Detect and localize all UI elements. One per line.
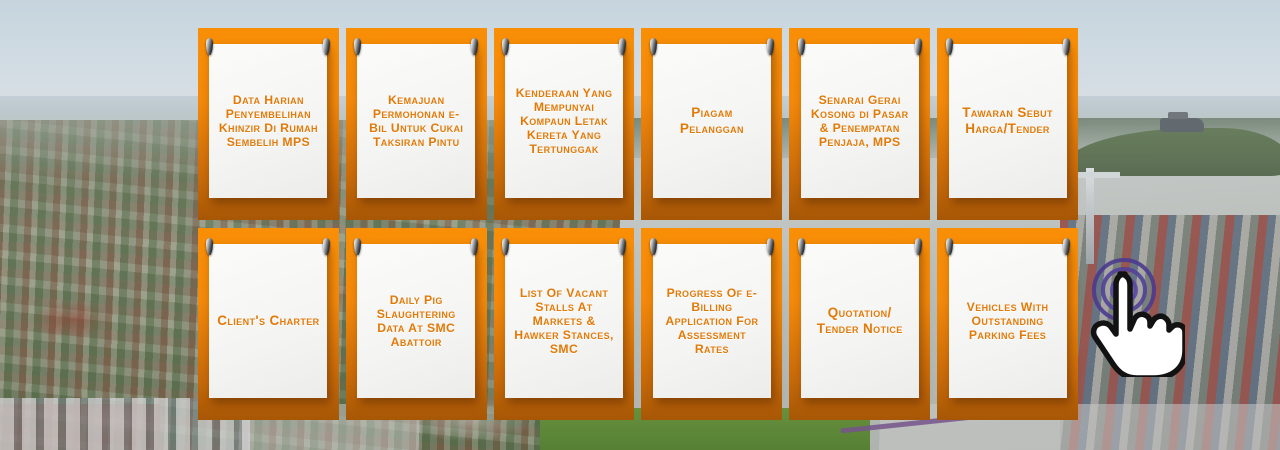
card-title: Tawaran Sebut Harga/Tender <box>956 105 1060 136</box>
pin-icon <box>1063 38 1070 55</box>
service-card[interactable]: Data Harian Penyembelihan Khinzir Di Rum… <box>198 28 339 220</box>
pin-icon <box>502 38 509 55</box>
pin-icon <box>323 38 330 55</box>
service-card[interactable]: Piagam Pelanggan <box>641 28 782 220</box>
pin-icon <box>354 238 361 255</box>
card-title: Vehicles With Outstanding Parking Fees <box>956 300 1060 342</box>
pin-icon <box>502 238 509 255</box>
service-card-grid: Data Harian Penyembelihan Khinzir Di Rum… <box>198 28 1078 420</box>
pin-icon <box>650 38 657 55</box>
card-paper: Tawaran Sebut Harga/Tender <box>949 44 1067 198</box>
pin-icon <box>767 238 774 255</box>
card-title: Kenderaan Yang Mempunyai Kompaun Letak K… <box>512 86 616 157</box>
card-paper: Data Harian Penyembelihan Khinzir Di Rum… <box>209 44 327 198</box>
card-title: Client's Charter <box>217 313 319 329</box>
pin-icon <box>206 238 213 255</box>
pin-icon <box>767 38 774 55</box>
pin-icon <box>946 38 953 55</box>
pin-icon <box>915 238 922 255</box>
service-card[interactable]: Daily Pig Slaughtering Data At SMC Abatt… <box>346 228 487 420</box>
service-card[interactable]: Vehicles With Outstanding Parking Fees <box>937 228 1078 420</box>
card-title: Quotation/ Tender Notice <box>808 305 912 336</box>
pin-icon <box>798 38 805 55</box>
pin-icon <box>798 238 805 255</box>
card-title: Daily Pig Slaughtering Data At SMC Abatt… <box>364 293 468 350</box>
service-card[interactable]: Quotation/ Tender Notice <box>789 228 930 420</box>
pin-icon <box>206 38 213 55</box>
card-paper: Quotation/ Tender Notice <box>801 244 919 398</box>
service-card[interactable]: Tawaran Sebut Harga/Tender <box>937 28 1078 220</box>
pin-icon <box>471 238 478 255</box>
card-paper: Senarai Gerai Kosong di Pasar & Penempat… <box>801 44 919 198</box>
pin-icon <box>1063 238 1070 255</box>
card-paper: List Of Vacant Stalls At Markets & Hawke… <box>505 244 623 398</box>
card-paper: Kenderaan Yang Mempunyai Kompaun Letak K… <box>505 44 623 198</box>
card-title: Kemajuan Permohonan e-Bil Untuk Cukai Ta… <box>364 93 468 150</box>
service-card[interactable]: Progress Of e-Billing Application For As… <box>641 228 782 420</box>
card-paper: Daily Pig Slaughtering Data At SMC Abatt… <box>357 244 475 398</box>
card-title: Senarai Gerai Kosong di Pasar & Penempat… <box>808 93 912 150</box>
card-row-bottom: Client's Charter Daily Pig Slaughtering … <box>198 228 1078 420</box>
card-paper: Kemajuan Permohonan e-Bil Untuk Cukai Ta… <box>357 44 475 198</box>
pin-icon <box>471 38 478 55</box>
card-title: Data Harian Penyembelihan Khinzir Di Rum… <box>216 93 320 150</box>
pin-icon <box>323 238 330 255</box>
pin-icon <box>946 238 953 255</box>
service-card[interactable]: List Of Vacant Stalls At Markets & Hawke… <box>494 228 635 420</box>
pin-icon <box>650 238 657 255</box>
service-card[interactable]: Senarai Gerai Kosong di Pasar & Penempat… <box>789 28 930 220</box>
card-title: List Of Vacant Stalls At Markets & Hawke… <box>512 286 616 357</box>
pin-icon <box>915 38 922 55</box>
pin-icon <box>354 38 361 55</box>
service-card[interactable]: Client's Charter <box>198 228 339 420</box>
card-title: Progress Of e-Billing Application For As… <box>660 286 764 357</box>
pin-icon <box>619 238 626 255</box>
card-paper: Vehicles With Outstanding Parking Fees <box>949 244 1067 398</box>
card-row-top: Data Harian Penyembelihan Khinzir Di Rum… <box>198 28 1078 220</box>
service-card[interactable]: Kemajuan Permohonan e-Bil Untuk Cukai Ta… <box>346 28 487 220</box>
service-card[interactable]: Kenderaan Yang Mempunyai Kompaun Letak K… <box>494 28 635 220</box>
card-paper: Progress Of e-Billing Application For As… <box>653 244 771 398</box>
card-paper: Client's Charter <box>209 244 327 398</box>
card-paper: Piagam Pelanggan <box>653 44 771 198</box>
card-title: Piagam Pelanggan <box>660 105 764 136</box>
pin-icon <box>619 38 626 55</box>
